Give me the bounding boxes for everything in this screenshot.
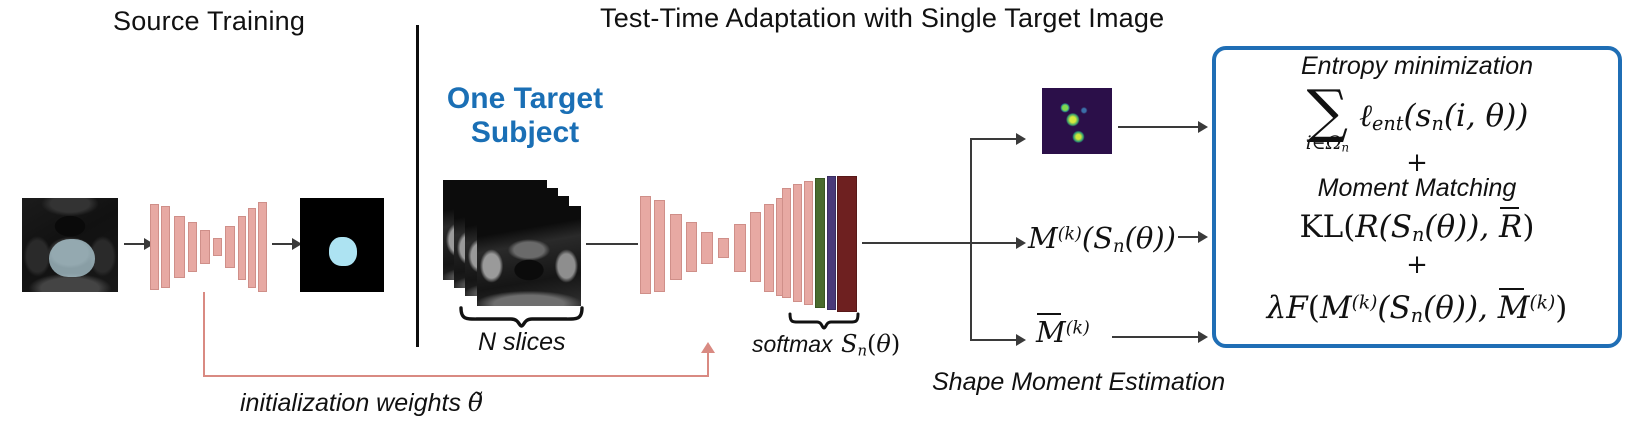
lambda-M1-symbol: M <box>1320 290 1352 326</box>
branch-vertical-line <box>970 138 972 341</box>
moment-matching-title: Moment Matching <box>1216 174 1618 203</box>
moment-plus-sign: + <box>1216 250 1618 280</box>
kl-mid: (θ)), <box>1424 209 1499 245</box>
initialization-weights-caption: initialization weights θ̃ <box>240 388 483 418</box>
target-unet <box>638 186 793 304</box>
branch-middle-line <box>970 242 1022 244</box>
softmax-layer-green <box>815 178 825 308</box>
lambda-open: ( <box>1308 290 1320 326</box>
lambda-f-equation: λF(M(k)(Sn(θ)), M(k)) <box>1216 290 1618 327</box>
lambda-sub: n <box>1411 304 1423 327</box>
figure-canvas: Source Training Test-Time Adaptation wit… <box>0 0 1626 440</box>
source-training-heading: Source Training <box>113 6 305 37</box>
n-slices-brace <box>459 306 584 328</box>
lambda-close: ) <box>1555 290 1567 326</box>
lambda-sup2: (k) <box>1530 293 1556 314</box>
kl-open: (S <box>1379 209 1412 245</box>
moment-reference-to-box-line <box>1112 336 1204 338</box>
softmax-layer-darkred <box>837 176 857 312</box>
feedback-arrow-bottom-segment <box>203 375 709 377</box>
moment-reference-sup: (k) <box>1066 318 1090 338</box>
branch-middle-arrow-head <box>1016 237 1026 249</box>
entropy-map-to-box-arrow-head <box>1198 121 1208 133</box>
source-output-mask <box>300 198 384 292</box>
entropy-equation: ∑ i∈Ωn ℓent(sn(i, θ)) <box>1216 82 1618 154</box>
lambda-sup1: (k) <box>1352 293 1378 314</box>
source-output-arrow-line <box>272 243 294 245</box>
n-slices-caption: N slices <box>478 328 566 357</box>
entropy-loss-term: ℓent(sn(i, θ)) <box>1359 98 1528 135</box>
softmax-layer-purple <box>827 176 836 310</box>
kl-prefix: KL( <box>1299 209 1355 245</box>
moment-prediction-tail: (θ)) <box>1125 221 1176 255</box>
theta-tilde-symbol: θ̃ <box>468 388 483 417</box>
softmax-caption: softmax Sn(θ) <box>752 330 900 359</box>
entropy-minimization-title: Entropy minimization <box>1216 52 1618 81</box>
entropy-map-image <box>1042 88 1112 154</box>
moment-prediction-label: M(k)(Sn(θ)) <box>1028 221 1176 257</box>
branch-top-line <box>970 138 1022 140</box>
kl-Rbar-symbol: R <box>1499 209 1522 245</box>
lambda-symbol: λ <box>1267 290 1287 326</box>
source-unet <box>148 196 268 300</box>
softmax-brace <box>788 312 860 330</box>
one-target-subject-callout: One Target Subject <box>437 82 613 149</box>
moment-prediction-sub: n <box>1113 236 1125 257</box>
F-symbol: F <box>1286 290 1308 326</box>
moment-reference-cal: M <box>1036 315 1066 349</box>
kl-equation: KL(R(Sn(θ)), R) <box>1216 209 1618 246</box>
target-input-arrow-line <box>586 243 638 245</box>
shape-moment-estimation-caption: Shape Moment Estimation <box>932 368 1225 397</box>
softmax-output-stack <box>782 176 862 316</box>
branch-bottom-line <box>970 339 1022 341</box>
branch-bottom-arrow-head <box>1016 334 1026 346</box>
lambda-arg: (S <box>1377 290 1410 326</box>
lambda-M2-symbol: M <box>1498 290 1530 326</box>
target-slice-stack <box>443 180 583 310</box>
moment-prediction-arg: (S <box>1082 221 1113 255</box>
loss-function-box: Entropy minimization ∑ i∈Ωn ℓent(sn(i, θ… <box>1212 46 1622 348</box>
kl-R-symbol: R <box>1355 209 1378 245</box>
entropy-map-to-box-line <box>1118 126 1204 128</box>
callout-line-2: Subject <box>437 116 613 150</box>
kl-close: ) <box>1522 209 1534 245</box>
kl-sub: n <box>1412 223 1424 246</box>
moment-prediction-cal: M <box>1028 221 1058 255</box>
branch-trunk-line <box>862 242 972 244</box>
section-divider <box>416 25 419 347</box>
lambda-mid: (θ)), <box>1423 290 1498 326</box>
moment-reference-to-box-arrow-head <box>1198 331 1208 343</box>
feedback-arrow-left-segment <box>203 292 205 377</box>
source-input-image <box>22 198 118 292</box>
moment-reference-label: M(k) <box>1036 315 1090 349</box>
initialization-weights-text: initialization weights <box>240 389 461 417</box>
feedback-arrow-right-segment <box>707 352 709 376</box>
branch-top-arrow-head <box>1016 133 1026 145</box>
test-time-adaptation-heading: Test-Time Adaptation with Single Target … <box>600 3 1164 34</box>
softmax-output-symbol: Sn(θ) <box>841 330 900 358</box>
source-input-arrow-line <box>124 243 146 245</box>
moment-prediction-to-box-arrow-head <box>1198 231 1208 243</box>
softmax-label: softmax <box>752 331 833 357</box>
feedback-arrow-head <box>701 342 715 353</box>
moment-prediction-sup: (k) <box>1058 224 1082 244</box>
callout-line-1: One Target <box>437 82 613 116</box>
